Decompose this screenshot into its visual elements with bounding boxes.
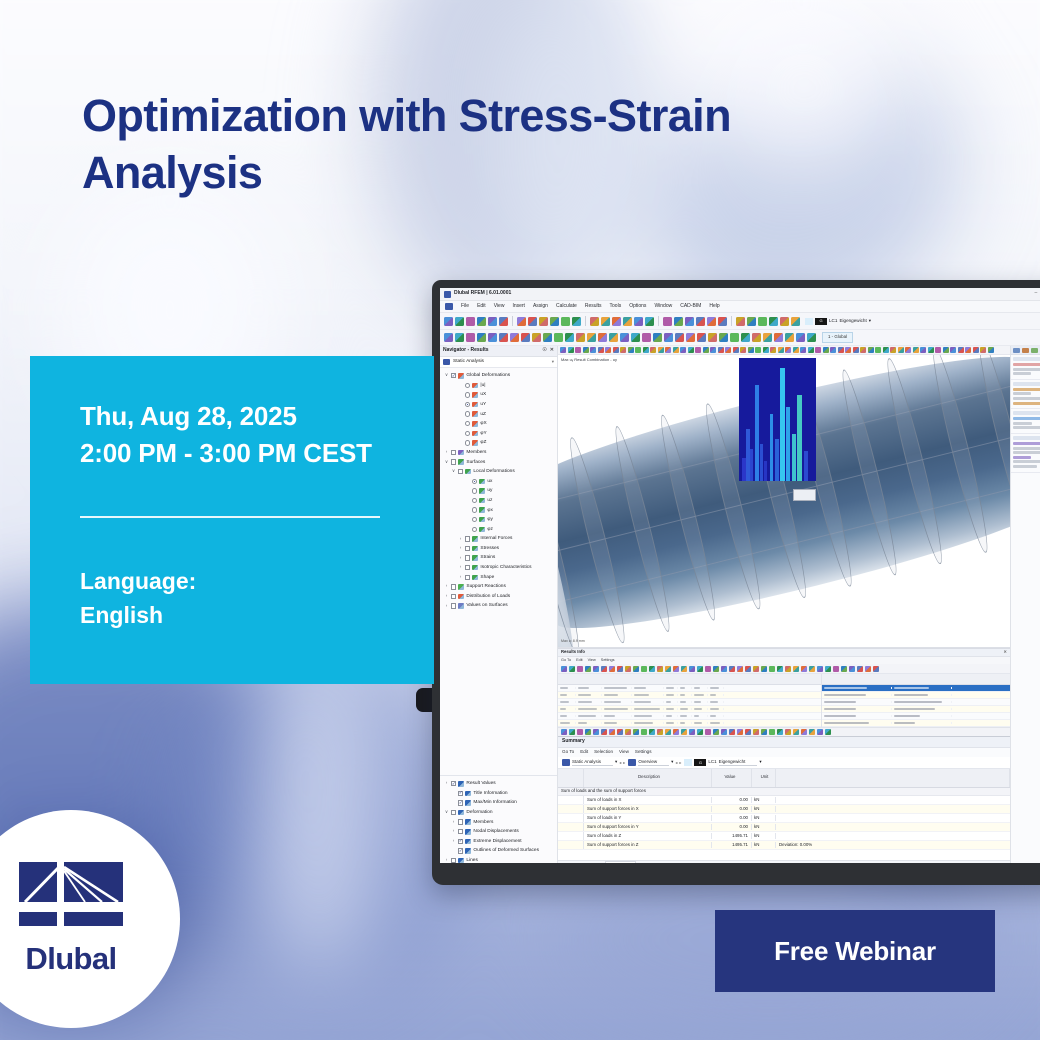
menu-item-help[interactable]: Help bbox=[709, 303, 719, 311]
checkbox[interactable]: ✓ bbox=[458, 800, 463, 805]
toolbar-button-17[interactable] bbox=[680, 347, 686, 353]
summary-menu-edit[interactable]: Edit bbox=[580, 749, 588, 756]
toolbar-button-19[interactable] bbox=[695, 347, 701, 353]
toolbar-button-7[interactable] bbox=[605, 347, 611, 353]
chevron-right-icon[interactable]: › bbox=[458, 555, 463, 562]
navigator-item[interactable]: ›Values on Surfaces bbox=[442, 601, 557, 611]
toolbar-button-9[interactable] bbox=[625, 666, 631, 672]
summary-menubar[interactable]: Go ToEditSelectionViewSettings bbox=[558, 748, 1010, 757]
menu-item-tools[interactable]: Tools bbox=[610, 303, 622, 311]
toolbar-button-29[interactable] bbox=[785, 729, 791, 735]
toolbar-button-22[interactable] bbox=[696, 317, 705, 326]
radio-button[interactable] bbox=[465, 421, 470, 426]
navigator-item[interactable]: ›Stresses bbox=[442, 544, 557, 554]
navigator-item[interactable]: uY bbox=[442, 400, 557, 410]
toolbar-button-37[interactable] bbox=[830, 347, 836, 353]
table-row[interactable] bbox=[822, 713, 1010, 720]
menu-item-edit[interactable]: Edit bbox=[477, 303, 486, 311]
toolbar-button-57[interactable] bbox=[980, 347, 986, 353]
toolbar-button-40[interactable] bbox=[873, 666, 879, 672]
checkbox[interactable] bbox=[465, 555, 470, 560]
radio-button[interactable] bbox=[465, 392, 470, 397]
main-toolbar[interactable]: GLC1Eigengewicht▾ bbox=[440, 313, 1040, 330]
toolbar-button-41[interactable] bbox=[860, 347, 866, 353]
minimize-icon[interactable]: – bbox=[1035, 290, 1038, 298]
summary-loadcase-combo[interactable]: G LC1 Eigengewicht ▾ bbox=[684, 759, 761, 767]
chevron-right-icon[interactable]: › bbox=[444, 449, 449, 456]
navigator-item[interactable]: ∨✓Global Deformations bbox=[442, 371, 557, 381]
toolbar-button-24[interactable] bbox=[745, 729, 751, 735]
toolbar-button-49[interactable] bbox=[920, 347, 926, 353]
loadcase-selector[interactable]: GLC1Eigengewicht▾ bbox=[805, 318, 871, 325]
toolbar-button-6[interactable] bbox=[598, 347, 604, 353]
toolbar-button-3[interactable] bbox=[466, 317, 475, 326]
results-table-menu[interactable]: Go ToEditViewSettings bbox=[558, 657, 1010, 664]
toolbar-button-1[interactable] bbox=[560, 347, 566, 353]
toolbar-button-35[interactable] bbox=[815, 347, 821, 353]
toolbar-button-12[interactable] bbox=[565, 333, 574, 342]
menu-item-results[interactable]: Results bbox=[585, 303, 602, 311]
toolbar-button-29[interactable] bbox=[752, 333, 761, 342]
summary-combo-row[interactable]: Static Analysis ▾ ◂▸ Overview ▾ ◂▸ bbox=[558, 757, 1010, 769]
toolbar-button-44[interactable] bbox=[883, 347, 889, 353]
toolbar-button-30[interactable] bbox=[791, 317, 800, 326]
summary-row[interactable]: Sum of loads in Z1495.71kN bbox=[558, 832, 1010, 841]
toolbar-button-24[interactable] bbox=[697, 333, 706, 342]
model-viewport[interactable]: Max uᵧ Result Combination - uy Max u: 8.… bbox=[558, 355, 1010, 648]
navigator-item[interactable]: ›✓Extreme Displacement bbox=[442, 837, 557, 847]
toolbar-button-46[interactable] bbox=[898, 347, 904, 353]
toolbar-button-9[interactable] bbox=[620, 347, 626, 353]
toolbar-button-27[interactable] bbox=[758, 317, 767, 326]
toolbar-button-6[interactable] bbox=[601, 666, 607, 672]
toolbar-button-25[interactable] bbox=[753, 729, 759, 735]
navigator-item[interactable]: φZ bbox=[442, 438, 557, 448]
menu-item-calculate[interactable]: Calculate bbox=[556, 303, 577, 311]
toolbar-button-42[interactable] bbox=[868, 347, 874, 353]
toolbar-button-7[interactable] bbox=[510, 333, 519, 342]
toolbar-button-20[interactable] bbox=[713, 729, 719, 735]
results-grid-right[interactable] bbox=[821, 674, 1010, 727]
toolbar-button-30[interactable] bbox=[793, 666, 799, 672]
radio-button[interactable] bbox=[465, 383, 470, 388]
navigator-item[interactable]: ✓Title Information bbox=[442, 789, 557, 799]
toolbar-button-13[interactable] bbox=[576, 333, 585, 342]
toolbar-button-20[interactable] bbox=[653, 333, 662, 342]
toolbar-button-8[interactable] bbox=[617, 729, 623, 735]
toolbar-button-2[interactable] bbox=[568, 347, 574, 353]
toolbar-button-20[interactable] bbox=[703, 347, 709, 353]
toolbar-button-32[interactable] bbox=[793, 347, 799, 353]
toolbar-button-31[interactable] bbox=[801, 729, 807, 735]
toolbar-button-3[interactable] bbox=[575, 347, 581, 353]
checkbox[interactable] bbox=[465, 536, 470, 541]
chevron-right-icon[interactable]: › bbox=[444, 583, 449, 590]
analysis-type-combo[interactable]: Static Analysis ▾ bbox=[440, 357, 557, 368]
toolbar-button-38[interactable] bbox=[857, 666, 863, 672]
table-row[interactable] bbox=[822, 692, 1010, 699]
summary-analysis-combo[interactable]: Static Analysis ▾ ◂▸ bbox=[562, 759, 625, 767]
toolbar-button-13[interactable] bbox=[657, 729, 663, 735]
toolbar-button-15[interactable] bbox=[673, 666, 679, 672]
toolbar-button-22[interactable] bbox=[729, 729, 735, 735]
summary-row[interactable]: Sum of loads in X0.00kN bbox=[558, 796, 1010, 805]
toolbar-button-29[interactable] bbox=[780, 317, 789, 326]
toolbar-button-1[interactable] bbox=[444, 333, 453, 342]
toolbar-button-58[interactable] bbox=[988, 347, 994, 353]
chevron-down-icon[interactable]: ∨ bbox=[444, 809, 449, 816]
results-table-toolbar[interactable] bbox=[558, 664, 1010, 674]
toolbar-button-1[interactable] bbox=[444, 317, 453, 326]
toolbar-button-11[interactable] bbox=[641, 729, 647, 735]
navigator-item[interactable]: ›Nodal Displacements bbox=[442, 827, 557, 837]
navigator-item[interactable]: φX bbox=[442, 419, 557, 429]
navigator-item[interactable]: φy bbox=[442, 515, 557, 525]
toolbar-button-50[interactable] bbox=[928, 347, 934, 353]
table-row[interactable] bbox=[822, 685, 1010, 692]
navigator-item[interactable]: ›Shape bbox=[442, 572, 557, 582]
radio-button[interactable] bbox=[465, 402, 470, 407]
toolbar-button-24[interactable] bbox=[733, 347, 739, 353]
toolbar-button-14[interactable] bbox=[587, 333, 596, 342]
toolbar-button-21[interactable] bbox=[710, 347, 716, 353]
toolbar-button-15[interactable] bbox=[612, 317, 621, 326]
toolbar-button-19[interactable] bbox=[663, 317, 672, 326]
toolbar-button-36[interactable] bbox=[823, 347, 829, 353]
summary-menu-selection[interactable]: Selection bbox=[594, 749, 613, 756]
toolbar-button-16[interactable] bbox=[609, 333, 618, 342]
summary-menu-settings[interactable]: Settings bbox=[635, 749, 652, 756]
radio-button[interactable] bbox=[472, 498, 477, 503]
checkbox[interactable] bbox=[451, 459, 456, 464]
free-webinar-button[interactable]: Free Webinar bbox=[715, 910, 995, 992]
toolbar-button-3[interactable] bbox=[466, 333, 475, 342]
toolbar-button-23[interactable] bbox=[737, 666, 743, 672]
toolbar-button-23[interactable] bbox=[725, 347, 731, 353]
toolbar-button-39[interactable] bbox=[845, 347, 851, 353]
toolbar-button-21[interactable] bbox=[721, 729, 727, 735]
toolbar-button-28[interactable] bbox=[769, 317, 778, 326]
toolbar-button-12[interactable] bbox=[649, 729, 655, 735]
menu-item-view[interactable]: View bbox=[494, 303, 505, 311]
toolbar-button-51[interactable] bbox=[935, 347, 941, 353]
toolbar-button-1[interactable] bbox=[561, 729, 567, 735]
results-table-footer[interactable] bbox=[558, 727, 1010, 736]
toolbar-button-20[interactable] bbox=[674, 317, 683, 326]
toolbar-button-25[interactable] bbox=[740, 347, 746, 353]
radio-button[interactable] bbox=[465, 440, 470, 445]
checkbox[interactable] bbox=[458, 829, 463, 834]
panel-card[interactable] bbox=[1011, 434, 1040, 473]
toolbar-button-6[interactable] bbox=[601, 729, 607, 735]
summary-view-combo[interactable]: Overview ▾ ◂▸ bbox=[628, 759, 681, 767]
toolbar-button-55[interactable] bbox=[965, 347, 971, 353]
toolbar-button-8[interactable] bbox=[613, 347, 619, 353]
checkbox[interactable] bbox=[451, 858, 456, 863]
table-row[interactable] bbox=[558, 699, 821, 706]
table-row[interactable] bbox=[822, 720, 1010, 727]
toolbar-button-26[interactable] bbox=[747, 317, 756, 326]
toolbar-button-15[interactable] bbox=[665, 347, 671, 353]
navigator-item[interactable]: ux bbox=[442, 477, 557, 487]
table-row[interactable] bbox=[822, 706, 1010, 713]
toolbar-button-3[interactable] bbox=[577, 666, 583, 672]
toolbar-button-34[interactable] bbox=[808, 347, 814, 353]
toolbar-button-31[interactable] bbox=[785, 347, 791, 353]
toolbar-button-5[interactable] bbox=[488, 317, 497, 326]
toolbar-button-7[interactable] bbox=[517, 317, 526, 326]
toolbar-button-10[interactable] bbox=[633, 729, 639, 735]
checkbox[interactable] bbox=[465, 565, 470, 570]
checkbox[interactable] bbox=[451, 450, 456, 455]
toolbar-button-45[interactable] bbox=[890, 347, 896, 353]
toolbar-button-2[interactable] bbox=[455, 317, 464, 326]
chevron-right-icon[interactable]: › bbox=[458, 536, 463, 543]
navigator-item[interactable]: |u| bbox=[442, 381, 557, 391]
navigator-item[interactable]: ›Internal Forces bbox=[442, 534, 557, 544]
checkbox[interactable]: ✓ bbox=[458, 848, 463, 853]
toolbar-button-36[interactable] bbox=[841, 666, 847, 672]
checkbox[interactable]: ✓ bbox=[451, 373, 456, 378]
right-panel-cards[interactable] bbox=[1011, 355, 1040, 473]
toolbar-button-13[interactable] bbox=[657, 666, 663, 672]
navigator-item[interactable]: ›Strains bbox=[442, 553, 557, 563]
toolbar-button-9[interactable] bbox=[532, 333, 541, 342]
navigator-item[interactable]: ∨Local Deformations bbox=[442, 467, 557, 477]
navigator-item[interactable]: uz bbox=[442, 496, 557, 506]
toolbar-button-31[interactable] bbox=[801, 666, 807, 672]
toolbar-button-4[interactable] bbox=[585, 666, 591, 672]
toolbar-button-37[interactable] bbox=[849, 666, 855, 672]
toolbar-button-34[interactable] bbox=[825, 666, 831, 672]
navigator-item[interactable]: φz bbox=[442, 525, 557, 535]
checkbox[interactable] bbox=[458, 469, 463, 474]
toolbar-button-4[interactable] bbox=[477, 333, 486, 342]
toolbar-button-26[interactable] bbox=[748, 347, 754, 353]
menu-item-options[interactable]: Options bbox=[629, 303, 646, 311]
toolbar-button-4[interactable] bbox=[585, 729, 591, 735]
toolbar-button-11[interactable] bbox=[561, 317, 570, 326]
toolbar-button-6[interactable] bbox=[499, 317, 508, 326]
navigator-item[interactable]: ✓Max/Min Information bbox=[442, 798, 557, 808]
toolbar-button-43[interactable] bbox=[875, 347, 881, 353]
chevron-down-icon[interactable]: ▾ bbox=[552, 359, 554, 366]
toolbar-button-6[interactable] bbox=[499, 333, 508, 342]
toolbar-button-5[interactable] bbox=[593, 666, 599, 672]
toolbar-button-8[interactable] bbox=[521, 333, 530, 342]
toolbar-button-17[interactable] bbox=[689, 666, 695, 672]
summary-footer[interactable]: ⏮ ◂ 1 of 1 ▸ ⏭ Summary bbox=[558, 860, 1010, 863]
chevron-down-icon[interactable]: ∨ bbox=[451, 468, 456, 475]
secondary-toolbar[interactable]: 1 - Global bbox=[440, 330, 1040, 346]
toolbar-button-30[interactable] bbox=[778, 347, 784, 353]
toolbar-button-32[interactable] bbox=[809, 729, 815, 735]
navigator-tree[interactable]: ∨✓Global Deformations|u|uXuYuZφXφYφZ›Mem… bbox=[440, 368, 557, 775]
toolbar-button-33[interactable] bbox=[817, 729, 823, 735]
toolbar-button-8[interactable] bbox=[528, 317, 537, 326]
checkbox[interactable]: ✓ bbox=[458, 791, 463, 796]
chevron-right-icon[interactable]: › bbox=[451, 838, 456, 845]
toolbar-button-16[interactable] bbox=[681, 729, 687, 735]
toolbar-button-10[interactable] bbox=[550, 317, 559, 326]
toolbar-button-12[interactable] bbox=[643, 347, 649, 353]
pin-icon[interactable]: ☉ bbox=[542, 347, 546, 355]
toolbar-button-32[interactable] bbox=[785, 333, 794, 342]
right-panel-header[interactable] bbox=[1011, 346, 1040, 355]
toolbar-button-38[interactable] bbox=[838, 347, 844, 353]
toolbar-button-56[interactable] bbox=[973, 347, 979, 353]
toolbar-button-39[interactable] bbox=[865, 666, 871, 672]
toolbar-button-30[interactable] bbox=[793, 729, 799, 735]
chevron-right-icon[interactable]: › bbox=[444, 857, 449, 863]
toolbar-button-16[interactable] bbox=[681, 666, 687, 672]
results-menu-settings[interactable]: Settings bbox=[601, 658, 615, 664]
radio-button[interactable] bbox=[465, 411, 470, 416]
toolbar-button-13[interactable] bbox=[650, 347, 656, 353]
toolbar-button-12[interactable] bbox=[649, 666, 655, 672]
toolbar-button-10[interactable] bbox=[628, 347, 634, 353]
toolbar-button-28[interactable] bbox=[777, 729, 783, 735]
summary-row[interactable]: Sum of loads in Y0.00kN bbox=[558, 814, 1010, 823]
checkbox[interactable]: ✓ bbox=[458, 839, 463, 844]
toolbar-button-15[interactable] bbox=[598, 333, 607, 342]
toolbar-button-47[interactable] bbox=[905, 347, 911, 353]
chevron-right-icon[interactable]: › bbox=[444, 780, 449, 787]
toolbar-button-4[interactable] bbox=[477, 317, 486, 326]
toolbar-button-32[interactable] bbox=[809, 666, 815, 672]
toolbar-button-33[interactable] bbox=[800, 347, 806, 353]
radio-button[interactable] bbox=[472, 527, 477, 532]
table-row[interactable] bbox=[558, 720, 821, 727]
toolbar-button-5[interactable] bbox=[488, 333, 497, 342]
toolbar-button-40[interactable] bbox=[853, 347, 859, 353]
results-menu-view[interactable]: View bbox=[588, 658, 596, 664]
toolbar-button-19[interactable] bbox=[705, 666, 711, 672]
panel-card[interactable] bbox=[1011, 380, 1040, 409]
radio-button[interactable] bbox=[472, 479, 477, 484]
table-row[interactable] bbox=[822, 699, 1010, 706]
close-icon[interactable]: ✕ bbox=[550, 347, 554, 355]
toolbar-button-18[interactable] bbox=[645, 317, 654, 326]
checkbox[interactable] bbox=[465, 546, 470, 551]
menu-item-insert[interactable]: Insert bbox=[512, 303, 525, 311]
toolbar-button-18[interactable] bbox=[697, 729, 703, 735]
toolbar-button-25[interactable] bbox=[753, 666, 759, 672]
toolbar-button-34[interactable] bbox=[825, 729, 831, 735]
toolbar-button-54[interactable] bbox=[958, 347, 964, 353]
summary-menu-view[interactable]: View bbox=[619, 749, 629, 756]
toolbar-button-23[interactable] bbox=[707, 317, 716, 326]
toolbar-button-25[interactable] bbox=[736, 317, 745, 326]
toolbar-button-17[interactable] bbox=[620, 333, 629, 342]
summary-menu-go-to[interactable]: Go To bbox=[562, 749, 574, 756]
results-menu-edit[interactable]: Edit bbox=[576, 658, 583, 664]
toolbar-button-17[interactable] bbox=[689, 729, 695, 735]
navigator-item[interactable]: ›Distribution of Loads bbox=[442, 592, 557, 602]
toolbar-button-14[interactable] bbox=[658, 347, 664, 353]
toolbar-button-28[interactable] bbox=[763, 347, 769, 353]
toolbar-button-9[interactable] bbox=[625, 729, 631, 735]
navigator-item[interactable]: uy bbox=[442, 486, 557, 496]
toolbar-button-2[interactable] bbox=[455, 333, 464, 342]
toolbar-button-14[interactable] bbox=[665, 729, 671, 735]
toolbar-button-27[interactable] bbox=[730, 333, 739, 342]
results-menu-go-to[interactable]: Go To bbox=[561, 658, 571, 664]
chevron-right-icon[interactable]: › bbox=[458, 574, 463, 581]
app-menubar[interactable]: FileEditViewInsertAssignCalculateResults… bbox=[440, 301, 1040, 313]
summary-row[interactable]: Sum of support forces in X0.00kN bbox=[558, 805, 1010, 814]
navigator-item[interactable]: uZ bbox=[442, 409, 557, 419]
chevron-down-icon[interactable]: ▾ bbox=[759, 759, 761, 766]
toolbar-button-21[interactable] bbox=[721, 666, 727, 672]
toolbar-button-27[interactable] bbox=[769, 729, 775, 735]
summary-row[interactable]: Sum of support forces in Z1495.71kNDevia… bbox=[558, 841, 1010, 850]
toolbar-button-7[interactable] bbox=[609, 729, 615, 735]
toolbar-button-18[interactable] bbox=[697, 666, 703, 672]
table-row[interactable] bbox=[558, 713, 821, 720]
toolbar-button-21[interactable] bbox=[664, 333, 673, 342]
menu-item-file[interactable]: File bbox=[461, 303, 469, 311]
chevron-down-icon[interactable]: ▾ bbox=[671, 759, 673, 766]
toolbar-button-15[interactable] bbox=[673, 729, 679, 735]
chevron-down-icon[interactable]: ▾ bbox=[615, 759, 617, 766]
checkbox[interactable] bbox=[451, 584, 456, 589]
toolbar-button-27[interactable] bbox=[769, 666, 775, 672]
toolbar-button-33[interactable] bbox=[796, 333, 805, 342]
toolbar-button-9[interactable] bbox=[539, 317, 548, 326]
checkbox[interactable] bbox=[458, 819, 463, 824]
toolbar-button-31[interactable] bbox=[774, 333, 783, 342]
toolbar-button-48[interactable] bbox=[913, 347, 919, 353]
toolbar-button-33[interactable] bbox=[817, 666, 823, 672]
checkbox[interactable] bbox=[451, 603, 456, 608]
toolbar-button-5[interactable] bbox=[590, 347, 596, 353]
toolbar-button-16[interactable] bbox=[623, 317, 632, 326]
coordinate-system-selector[interactable]: 1 - Global bbox=[822, 332, 853, 343]
toolbar-button-16[interactable] bbox=[673, 347, 679, 353]
toolbar-button-11[interactable] bbox=[635, 347, 641, 353]
toolbar-button-1[interactable] bbox=[561, 666, 567, 672]
toolbar-button-52[interactable] bbox=[943, 347, 949, 353]
toolbar-button-29[interactable] bbox=[785, 666, 791, 672]
menu-item-assign[interactable]: Assign bbox=[533, 303, 548, 311]
toolbar-button-35[interactable] bbox=[833, 666, 839, 672]
checkbox[interactable] bbox=[451, 810, 456, 815]
navigator-item[interactable]: ✓Outlines of Deformed Surfaces bbox=[442, 846, 557, 856]
toolbar-button-13[interactable] bbox=[590, 317, 599, 326]
toolbar-button-17[interactable] bbox=[634, 317, 643, 326]
toolbar-button-26[interactable] bbox=[761, 729, 767, 735]
navigator-item[interactable]: φY bbox=[442, 429, 557, 439]
panel-card[interactable] bbox=[1011, 355, 1040, 380]
toolbar-button-5[interactable] bbox=[593, 729, 599, 735]
toolbar-button-24[interactable] bbox=[745, 666, 751, 672]
navigator-item[interactable]: ›✓Result Values bbox=[442, 779, 557, 789]
menu-item-window[interactable]: Window bbox=[654, 303, 672, 311]
radio-button[interactable] bbox=[472, 507, 477, 512]
toolbar-button-25[interactable] bbox=[708, 333, 717, 342]
table-row[interactable] bbox=[558, 692, 821, 699]
toolbar-button-19[interactable] bbox=[642, 333, 651, 342]
toolbar-button-10[interactable] bbox=[633, 666, 639, 672]
navigator-item[interactable]: ›Support Reactions bbox=[442, 582, 557, 592]
checkbox[interactable]: ✓ bbox=[451, 781, 456, 786]
toolbar-button-18[interactable] bbox=[688, 347, 694, 353]
results-grid-left[interactable] bbox=[558, 674, 821, 727]
toolbar-button-18[interactable] bbox=[631, 333, 640, 342]
table-row[interactable] bbox=[558, 685, 821, 692]
toolbar-button-22[interactable] bbox=[729, 666, 735, 672]
